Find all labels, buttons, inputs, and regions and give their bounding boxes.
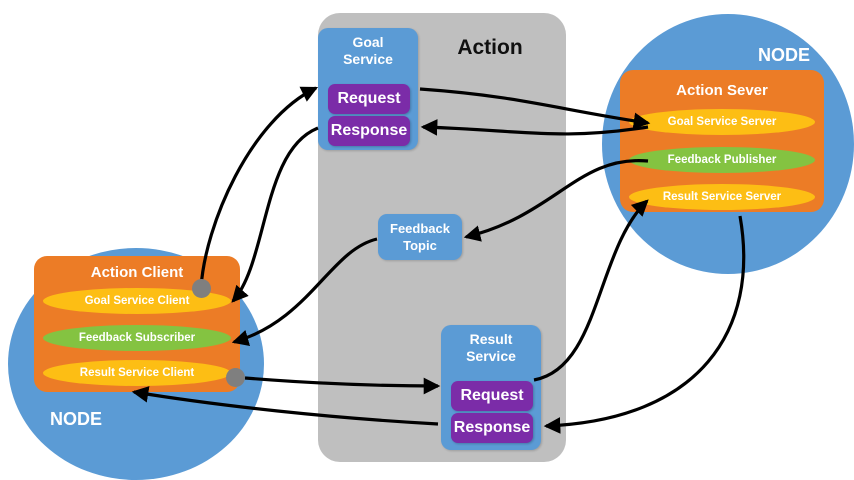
action-client-title: Action Client — [34, 264, 240, 281]
feedback-topic-box[interactable]: Feedback Topic — [378, 214, 462, 260]
result-service-response-pill[interactable]: Response — [451, 413, 533, 443]
result-client-connector-dot — [226, 368, 245, 387]
goal-service-response-pill[interactable]: Response — [328, 116, 410, 146]
action-client-box: Action Client Goal Service Client Feedba… — [34, 256, 240, 392]
feedback-subscriber-ellipse[interactable]: Feedback Subscriber — [43, 325, 231, 351]
arrow-goal-response-to-goal-client — [233, 128, 318, 301]
goal-service-title-line1: Goal — [352, 34, 383, 50]
action-panel-title: Action — [430, 36, 550, 60]
result-service-request-pill[interactable]: Request — [451, 381, 533, 411]
result-service-title-line1: Result — [470, 331, 513, 347]
result-service-client-ellipse[interactable]: Result Service Client — [43, 360, 231, 386]
diagram-canvas: Action NODE NODE Action Client Goal Serv… — [0, 0, 854, 480]
action-server-box: Action Sever Goal Service Server Feedbac… — [620, 70, 824, 212]
goal-service-box: Goal Service Request Response — [318, 28, 418, 150]
feedback-publisher-ellipse[interactable]: Feedback Publisher — [629, 147, 815, 173]
result-service-title-line2: Service — [466, 348, 516, 364]
goal-service-title: Goal Service — [318, 34, 418, 68]
action-server-title: Action Sever — [620, 82, 824, 99]
goal-client-connector-dot — [192, 279, 211, 298]
goal-service-title-line2: Service — [343, 51, 393, 67]
goal-service-request-pill[interactable]: Request — [328, 84, 410, 114]
server-node-label: NODE — [758, 45, 810, 66]
result-service-box: Result Service Request Response — [441, 325, 541, 450]
feedback-topic-label: Feedback Topic — [390, 220, 450, 254]
goal-service-server-ellipse[interactable]: Goal Service Server — [629, 109, 815, 135]
feedback-topic-line2: Topic — [403, 238, 437, 253]
result-service-title: Result Service — [441, 331, 541, 365]
client-node-label: NODE — [50, 409, 102, 430]
feedback-topic-line1: Feedback — [390, 221, 450, 236]
result-service-server-ellipse[interactable]: Result Service Server — [629, 184, 815, 210]
